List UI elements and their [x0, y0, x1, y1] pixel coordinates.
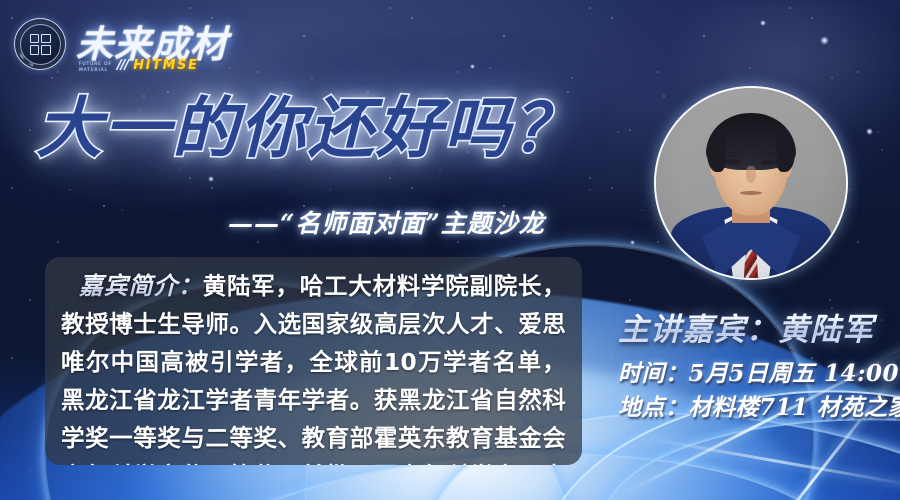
poster-canvas: 未来成材 FUTURE OF MATERIAL /// HITMSE 大一的你还… — [0, 0, 900, 500]
brand-name-cn: 未来成材 — [76, 26, 228, 63]
bright-star — [630, 240, 635, 245]
brand-wordmark: 未来成材 FUTURE OF MATERIAL /// HITMSE — [76, 16, 228, 72]
brand-subline: FUTURE OF MATERIAL /// HITMSE — [79, 58, 199, 73]
brand-english: FUTURE OF MATERIAL — [79, 62, 112, 73]
bio-label: 嘉宾简介： — [61, 271, 203, 300]
brand-latin: HITMSE — [133, 58, 198, 73]
brand-slashes: /// — [117, 58, 128, 73]
speaker-bio-box: 嘉宾简介：黄陆军，哈工大材料学院副院长，教授博士生导师。入选国家级高层次人才、爱… — [45, 257, 582, 465]
bright-star — [470, 64, 475, 69]
bright-star — [820, 36, 829, 45]
university-seal-icon — [14, 18, 66, 70]
event-guest: 主讲嘉宾：黄陆军 — [618, 304, 896, 349]
bio-body: 黄陆军，哈工大材料学院副院长，教授博士生导师。入选国家级高层次人才、爱思唯尔中国… — [61, 272, 566, 465]
portrait-vignette — [656, 88, 846, 278]
event-time: 时间：5月5日周五 14:00 — [618, 357, 896, 391]
brand-logo: 未来成材 FUTURE OF MATERIAL /// HITMSE — [14, 16, 228, 72]
bright-star — [760, 20, 766, 26]
event-info-panel: 主讲嘉宾：黄陆军 时间：5月5日周五 14:00 地点：材料楼711 材苑之家 — [618, 304, 896, 425]
speaker-bio-text: 嘉宾简介：黄陆军，哈工大材料学院副院长，教授博士生导师。入选国家级高层次人才、爱… — [61, 267, 566, 465]
event-place: 地点：材料楼711 材苑之家 — [618, 391, 896, 425]
speaker-portrait — [654, 86, 848, 280]
poster-headline: 大一的你还好吗？ — [36, 96, 580, 162]
poster-subheadline: ——“名师面对面”主题沙龙 — [228, 204, 545, 240]
bright-star — [208, 176, 214, 182]
seal-ring-text — [17, 21, 64, 68]
bright-star — [866, 128, 873, 135]
